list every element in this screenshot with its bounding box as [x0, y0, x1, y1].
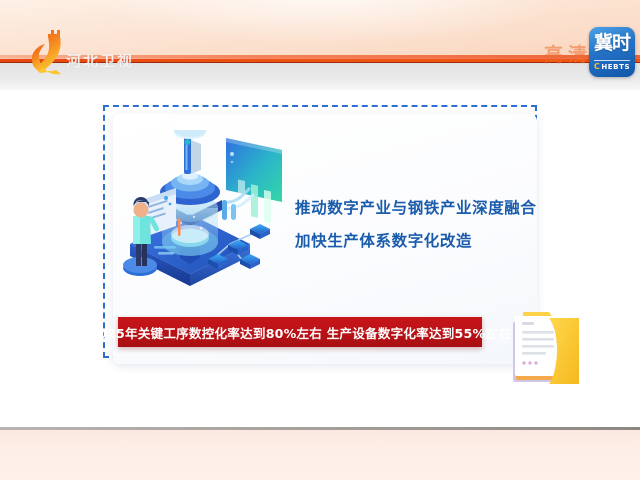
headline-line-1: 推动数字产业与钢铁产业深度融合: [295, 192, 545, 225]
slide-stage: 推动数字产业与钢铁产业深度融合 加快生产体系数字化改造 2025年关键工序数控化…: [0, 90, 640, 428]
hebei-tv-logo-text: 河北卫视: [66, 50, 134, 71]
headline-block: 推动数字产业与钢铁产业深度融合 加快生产体系数字化改造: [295, 192, 545, 258]
hebts-logo-en-wrap: CHEBTS: [589, 54, 635, 73]
header-watermark-text: 高清: [544, 40, 592, 67]
broadcast-screen: 高清 河北卫视 冀时 CHEBTS: [0, 0, 640, 480]
isometric-digital-industry-illustration: [118, 118, 298, 288]
hebts-station-logo: 冀时 CHEBTS: [589, 27, 635, 77]
hebts-logo-cn: 冀时: [589, 31, 635, 56]
hebei-tv-logo: 河北卫视: [26, 28, 146, 76]
red-banner-text: 2025年关键工序数控化率达到80%左右 生产设备数字化率达到55%左右: [89, 323, 511, 342]
hebts-logo-prefix: C: [594, 62, 600, 71]
headline-line-2: 加快生产体系数字化改造: [295, 225, 545, 258]
hebts-logo-en: CHEBTS: [594, 60, 630, 71]
hebts-logo-en-text: HEBTS: [601, 63, 630, 71]
red-statistics-banner: 2025年关键工序数控化率达到80%左右 生产设备数字化率达到55%左右: [118, 317, 482, 347]
folder-document-icon: [505, 300, 583, 388]
bottom-lower-third-band: [0, 430, 640, 480]
